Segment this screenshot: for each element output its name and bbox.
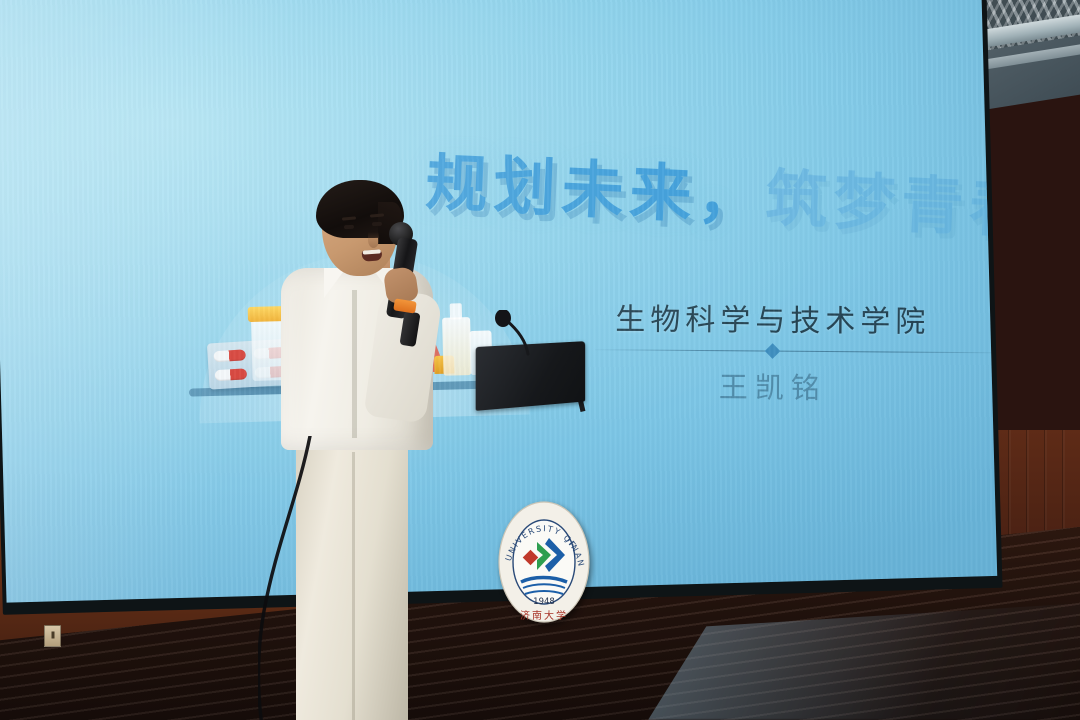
shirt-placket [352,290,357,438]
slide-subtitle-block: 生物科学与技术学院 王凯铭 [615,294,998,408]
speaker-eye [372,222,382,227]
slide-divider [595,349,997,353]
slide-presenter-name: 王凯铭 [719,364,998,408]
speaker-nose [368,232,379,248]
speaker-trousers [296,432,408,720]
gooseneck-microphone-icon [492,310,534,356]
capsule-icon [213,349,246,362]
emblem-year: 1948 [533,597,555,607]
slide-organization: 生物科学与技术学院 [615,294,997,341]
emblem-chinese-name: 济南大学 [520,609,568,622]
wall-power-outlet [44,625,61,647]
diamond-icon [765,343,781,359]
university-emblem-icon: UNIVERSITY OF JINAN 1948 济南大学 [495,498,593,626]
medicine-bottle-icon [442,317,472,376]
slide-title-main: 规划未来， [424,146,767,235]
capsule-icon [215,368,248,381]
presentation-photo-scene: 规划未来，筑梦青春 生物科学与技术学院 王凯铭 [0,0,1080,720]
slide-title: 规划未来，筑梦青春 [424,132,997,250]
shirt-collar-left [324,268,346,298]
speaker-eye [344,225,354,230]
slide-title-secondary: 筑梦青春 [764,162,997,247]
